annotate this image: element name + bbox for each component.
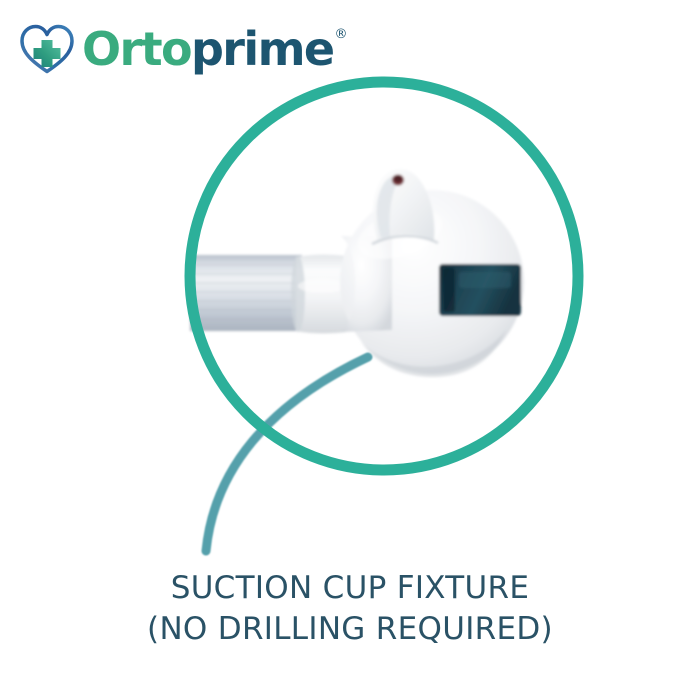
suction-cup-fixture-photo — [190, 169, 524, 377]
product-illustration — [0, 0, 700, 560]
product-feature-card: Orto prime ® — [0, 0, 700, 700]
callout-arrow — [206, 352, 372, 551]
product-figure — [0, 0, 700, 560]
caption-block: SUCTION CUP FIXTURE (NO DRILLING REQUIRE… — [0, 568, 700, 650]
caption-line-1: SUCTION CUP FIXTURE — [0, 568, 700, 609]
telescopic-rod — [190, 255, 302, 331]
caption-line-2: (NO DRILLING REQUIRED) — [0, 609, 700, 650]
